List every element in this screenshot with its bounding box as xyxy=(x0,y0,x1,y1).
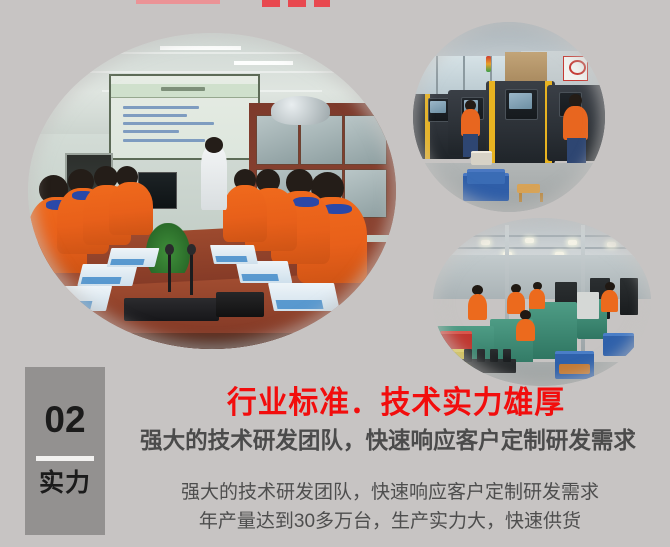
badge-number: 02 xyxy=(25,401,105,438)
body-line-1: 强大的技术研发团队，快速响应客户定制研发需求 xyxy=(110,478,670,507)
section-headline: 行业标准．技术实力雄厚 xyxy=(133,386,659,420)
top-remnant-underline xyxy=(136,0,220,4)
section-subheadline: 强大的技术研发团队，快速响应客户定制研发需求 xyxy=(112,427,665,455)
badge-divider xyxy=(36,456,94,461)
section-number-badge: 02 实力 xyxy=(25,367,105,535)
top-remnant-glyph-1 xyxy=(262,0,280,7)
product-detail-section: 02 实力 行业标准．技术实力雄厚 强大的技术研发团队，快速响应客户定制研发需求… xyxy=(0,0,670,547)
top-remnant-glyph-2 xyxy=(288,0,306,7)
no-smoking-sign xyxy=(563,56,588,81)
photo-assembly-line xyxy=(433,218,651,386)
presenter xyxy=(201,147,227,210)
body-line-2: 年产量达到30多万台，生产实力大，快速供货 xyxy=(110,507,670,536)
top-remnant-glyph-3 xyxy=(314,0,330,7)
projector-screen xyxy=(109,74,260,160)
badge-label: 实力 xyxy=(25,468,105,498)
section-body-text: 强大的技术研发团队，快速响应客户定制研发需求 年产量达到30多万台，生产实力大，… xyxy=(110,478,670,536)
photo-training-room xyxy=(28,33,396,349)
photo-cnc-workshop xyxy=(413,22,605,212)
